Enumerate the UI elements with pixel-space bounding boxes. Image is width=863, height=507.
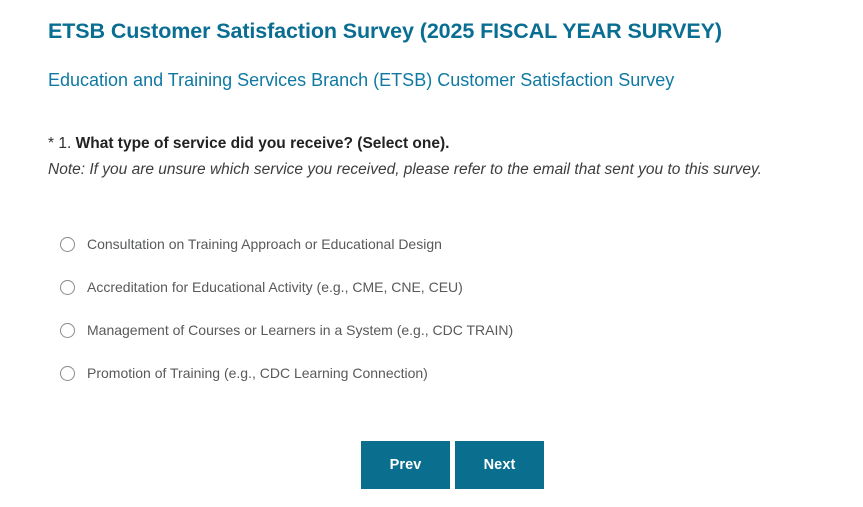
question-text: What type of service did you receive? (S…	[76, 135, 450, 152]
question-heading: * 1. What type of service did you receiv…	[48, 133, 848, 155]
radio-button-icon[interactable]	[60, 237, 75, 252]
survey-page: ETSB Customer Satisfaction Survey (2025 …	[0, 0, 863, 507]
option-row-2[interactable]: Accreditation for Educational Activity (…	[60, 279, 780, 322]
radio-button-icon[interactable]	[60, 366, 75, 381]
question-note: Note: If you are unsure which service yo…	[48, 157, 838, 183]
option-label-4[interactable]: Promotion of Training (e.g., CDC Learnin…	[87, 365, 428, 382]
next-button[interactable]: Next	[455, 441, 544, 489]
question-block: * 1. What type of service did you receiv…	[48, 133, 848, 183]
required-asterisk: *	[48, 135, 54, 152]
option-label-2[interactable]: Accreditation for Educational Activity (…	[87, 279, 463, 296]
radio-button-icon[interactable]	[60, 323, 75, 338]
option-row-1[interactable]: Consultation on Training Approach or Edu…	[60, 236, 780, 279]
navigation-buttons: Prev Next	[361, 441, 544, 489]
option-row-3[interactable]: Management of Courses or Learners in a S…	[60, 322, 780, 365]
prev-button[interactable]: Prev	[361, 441, 450, 489]
question-number: 1.	[58, 135, 71, 152]
option-label-3[interactable]: Management of Courses or Learners in a S…	[87, 322, 513, 339]
option-label-1[interactable]: Consultation on Training Approach or Edu…	[87, 236, 442, 253]
options-list: Consultation on Training Approach or Edu…	[60, 236, 780, 408]
radio-button-icon[interactable]	[60, 280, 75, 295]
survey-subtitle: Education and Training Services Branch (…	[48, 67, 848, 93]
option-row-4[interactable]: Promotion of Training (e.g., CDC Learnin…	[60, 365, 780, 408]
survey-title: ETSB Customer Satisfaction Survey (2025 …	[48, 17, 838, 45]
